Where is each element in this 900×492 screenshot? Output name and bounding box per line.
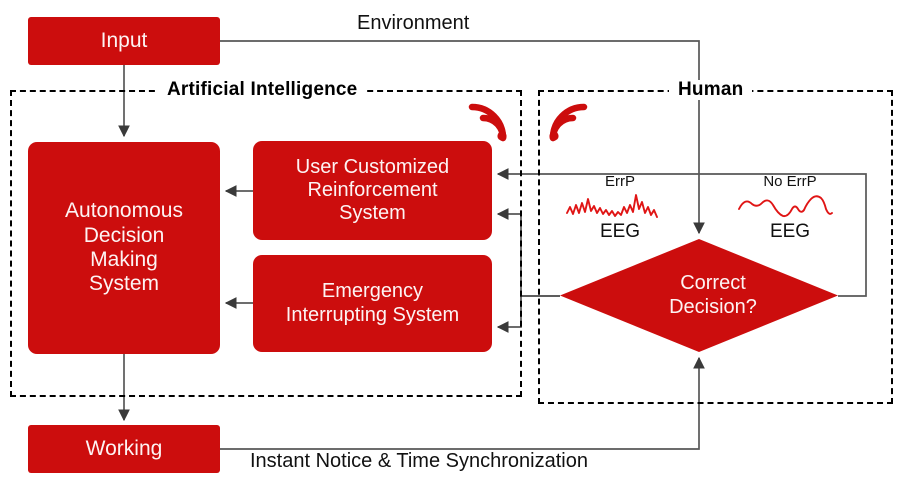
edge-label-instant-notice: Instant Notice & Time Synchronization xyxy=(246,450,592,473)
node-input-label: Input xyxy=(101,29,148,53)
eeg-title-no-errp: No ErrP xyxy=(730,174,850,190)
node-adms-line-2: Decision xyxy=(65,224,183,248)
eeg-block-errp: ErrP EEG xyxy=(560,174,680,243)
node-emergency-interrupting-system[interactable]: Emergency Interrupting System xyxy=(253,255,492,352)
node-autonomous-decision-making-system[interactable]: Autonomous Decision Making System xyxy=(28,142,220,354)
eeg-block-no-errp: No ErrP EEG xyxy=(730,174,850,243)
eeg-waveform-errp xyxy=(560,191,680,221)
node-adms-line-1: Autonomous xyxy=(65,199,183,223)
eeg-label-no-errp: EEG xyxy=(730,221,850,243)
eeg-label-errp: EEG xyxy=(560,221,680,243)
group-title-artificial-intelligence: Artificial Intelligence xyxy=(158,80,366,100)
diagram-canvas: Artificial Intelligence Human Input Auto… xyxy=(0,0,900,492)
node-user-customized-reinforcement-system[interactable]: User Customized Reinforcement System xyxy=(253,141,492,240)
node-input[interactable]: Input xyxy=(28,17,220,65)
node-working[interactable]: Working xyxy=(28,425,220,473)
node-ucrs-line-2: Reinforcement xyxy=(296,179,449,202)
eeg-title-errp: ErrP xyxy=(560,174,680,190)
eeg-waveform-no-errp xyxy=(730,191,850,221)
group-title-human: Human xyxy=(669,80,752,100)
wifi-icon xyxy=(464,100,510,142)
node-correct-decision-diamond[interactable]: Correct Decision? xyxy=(560,239,838,352)
wifi-icon xyxy=(546,100,592,142)
node-adms-line-4: System xyxy=(65,272,183,296)
node-adms-line-3: Making xyxy=(65,248,183,272)
node-eis-line-2: Interrupting System xyxy=(286,304,459,327)
node-diamond-line-1: Correct xyxy=(669,272,757,296)
node-ucrs-line-1: User Customized xyxy=(296,156,449,179)
node-diamond-line-2: Decision? xyxy=(669,296,757,320)
node-ucrs-line-3: System xyxy=(296,202,449,225)
node-eis-line-1: Emergency xyxy=(286,280,459,303)
node-working-label: Working xyxy=(86,437,163,461)
edge-label-environment: Environment xyxy=(353,12,473,35)
